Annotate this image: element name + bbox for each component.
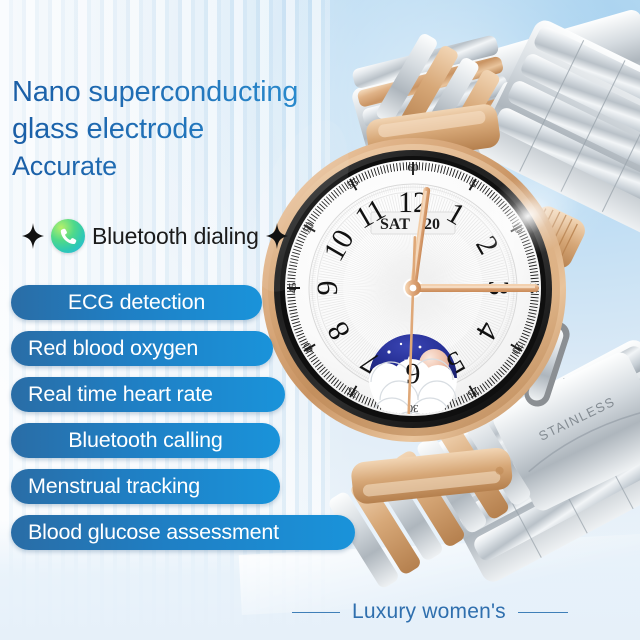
feature-pill-label: Menstrual tracking — [28, 474, 200, 499]
feature-pill-label: Real time heart rate — [28, 382, 213, 407]
sparkle-icon — [266, 223, 288, 249]
headline-line-3: Accurate — [12, 148, 412, 185]
feature-pill[interactable]: Menstrual tracking — [11, 469, 280, 504]
headline-block: Nano superconducting glass electrode Acc… — [12, 74, 412, 185]
advertisement-canvas: STAINLESS — [0, 0, 640, 640]
feature-pill-label: Blood glucose assessment — [28, 520, 279, 545]
feature-list: ECG detectionRed blood oxygenReal time h… — [11, 285, 355, 561]
feature-pill-label: ECG detection — [68, 290, 205, 315]
footer-rule-left — [292, 612, 340, 613]
footer-tagline: Luxury women's — [292, 600, 630, 624]
feature-pill-label: Bluetooth calling — [68, 428, 222, 453]
feature-pill-label: Red blood oxygen — [28, 336, 198, 361]
feature-pill[interactable]: Blood glucose assessment — [11, 515, 355, 550]
feature-pill[interactable]: ECG detection — [11, 285, 262, 320]
headline-line-1: Nano superconducting — [12, 74, 412, 111]
bluetooth-dialing-badge: Bluetooth dialing — [22, 219, 288, 253]
sparkle-icon — [22, 223, 44, 249]
feature-pill[interactable]: Red blood oxygen — [11, 331, 273, 366]
footer-label: Luxury women's — [352, 600, 506, 624]
bluetooth-dialing-label: Bluetooth dialing — [92, 223, 259, 250]
footer-rule-right — [518, 612, 568, 613]
feature-pill[interactable]: Bluetooth calling — [11, 423, 280, 458]
phone-call-icon — [51, 219, 85, 253]
feature-pill[interactable]: Real time heart rate — [11, 377, 285, 412]
headline-line-2: glass electrode — [12, 111, 412, 148]
